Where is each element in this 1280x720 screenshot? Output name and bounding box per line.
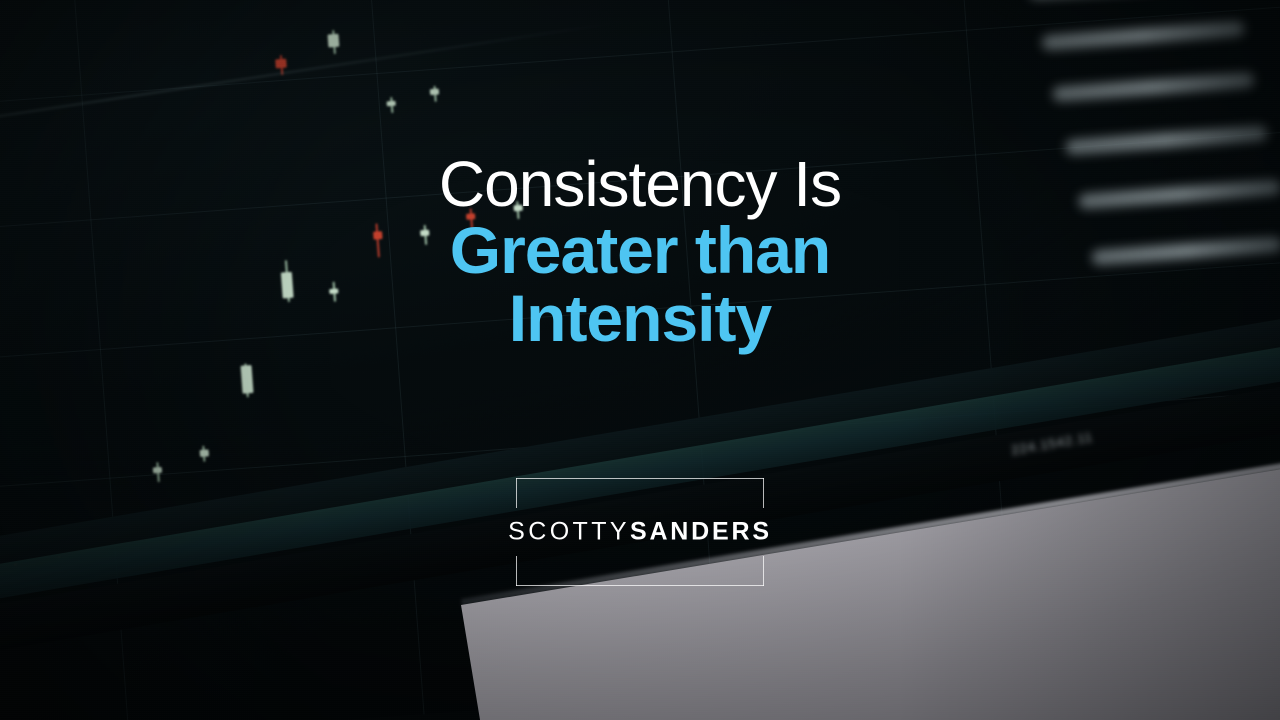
logo-frame-bottom-right-stub (763, 556, 764, 586)
logo-frame-bottom-left-stub (516, 556, 517, 586)
price-label (1052, 72, 1255, 102)
price-label (1042, 21, 1245, 51)
logo-wordmark: SCOTTYSANDERS (508, 518, 772, 547)
logo-frame-top-line (516, 478, 764, 479)
screenshot-canvas: 224.1542.11 Mon Consistency Is Greater t… (0, 0, 1280, 720)
headline-line-3: Intensity (439, 285, 841, 352)
headline-block: Consistency Is Greater than Intensity (439, 152, 841, 352)
price-label (1078, 179, 1280, 209)
logo-first-name: SCOTTY (508, 518, 630, 546)
logo-frame-top-right-stub (763, 478, 764, 508)
price-label (1092, 236, 1280, 265)
background-photo: 224.1542.11 Mon (0, 0, 1280, 720)
headline-line-1: Consistency Is (439, 152, 841, 217)
logo-frame-top-left-stub (516, 478, 517, 508)
price-label (1065, 126, 1268, 156)
headline-line-2: Greater than (439, 217, 841, 284)
logo-last-name: SANDERS (630, 518, 772, 546)
brand-logo[interactable]: SCOTTYSANDERS (516, 478, 764, 586)
logo-frame-bottom-line (516, 585, 764, 586)
